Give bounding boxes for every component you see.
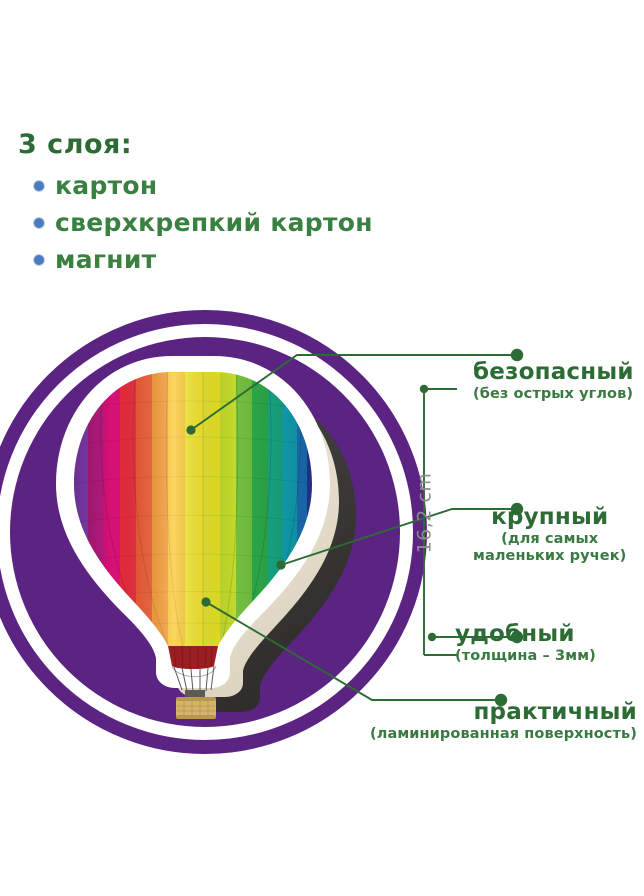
list-item: сверхкрепкий картон bbox=[34, 207, 436, 238]
annotation-subtitle: (без острых углов) bbox=[473, 386, 634, 403]
annotation-title: безопасный bbox=[473, 360, 634, 384]
annotation-title: крупный bbox=[473, 505, 626, 529]
balloon-burner bbox=[185, 690, 205, 697]
annotation-title: практичный bbox=[370, 700, 637, 724]
list-item: картон bbox=[34, 170, 436, 201]
balloon-magnet-graphic bbox=[48, 350, 378, 690]
dimension-value: 16,2 cm bbox=[413, 473, 435, 554]
bullet-dot-icon bbox=[34, 255, 44, 265]
annotation-subtitle-line2: маленьких ручек) bbox=[473, 548, 626, 565]
page-title: 3 слоя: bbox=[18, 131, 436, 158]
annotation-subtitle: (толщина – 3мм) bbox=[455, 648, 596, 665]
annotation-subtitle: (ламинированная поверхность) bbox=[370, 726, 637, 743]
annotation-subtitle-line1: (для самых bbox=[473, 531, 626, 548]
layers-legend: 3 слоя: картон сверхкрепкий картон магни… bbox=[16, 131, 436, 281]
annotation-title: удобный bbox=[455, 622, 596, 646]
magnet-layer-stack bbox=[48, 350, 378, 690]
bullet-dot-icon bbox=[34, 181, 44, 191]
layer-label: магнит bbox=[55, 247, 156, 272]
annotation-safe: безопасный (без острых углов) bbox=[473, 360, 634, 403]
dimension-label: 16,2 cm bbox=[409, 465, 439, 561]
product-badge bbox=[0, 310, 427, 754]
bullet-dot-icon bbox=[34, 218, 44, 228]
layers-list: картон сверхкрепкий картон магнит bbox=[16, 170, 436, 275]
layer-label: картон bbox=[55, 173, 157, 198]
balloon-skirt bbox=[168, 646, 218, 669]
annotation-practical: практичный (ламинированная поверхность) bbox=[370, 700, 637, 743]
balloon-basket bbox=[176, 697, 216, 719]
layer-label: сверхкрепкий картон bbox=[55, 210, 373, 235]
annotation-large: крупный (для самых маленьких ручек) bbox=[473, 505, 626, 565]
leader-dot-icon bbox=[428, 633, 436, 641]
infographic-canvas: 3 слоя: картон сверхкрепкий картон магни… bbox=[0, 0, 644, 896]
annotation-comfortable: удобный (толщина – 3мм) bbox=[455, 622, 596, 665]
list-item: магнит bbox=[34, 244, 436, 275]
